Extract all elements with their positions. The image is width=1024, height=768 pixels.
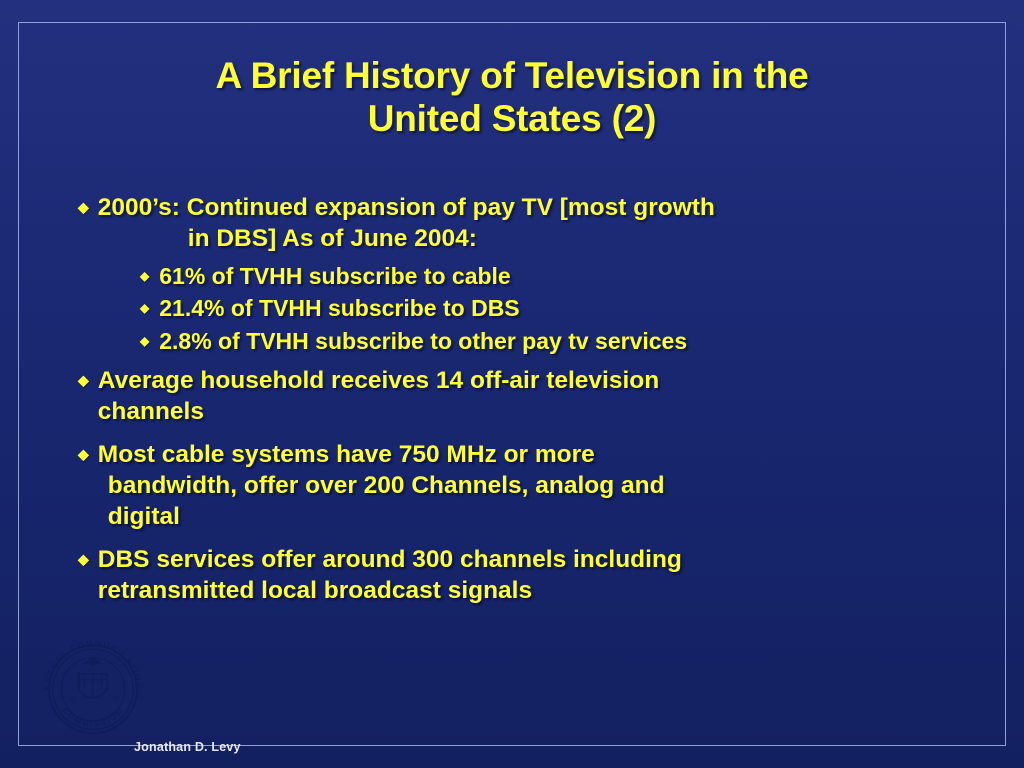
bullet-text-continuation: channels [98,396,1008,427]
bullet-text: 21.4% of TVHH subscribe to DBS [159,294,1008,323]
bullet-text: 2.8% of TVHH subscribe to other pay tv s… [159,327,1008,356]
slide: A Brief History of Television in the Uni… [0,0,1024,768]
title-line-2: United States (2) [368,98,657,139]
bullet-item: ◆ Most cable systems have 750 MHz or mor… [78,439,1008,533]
spacer [78,534,1008,544]
diamond-bullet-icon: ◆ [140,270,149,282]
svg-text:C: C [113,696,118,703]
slide-body: ◆ 2000’s: Continued expansion of pay TV … [78,192,1008,608]
bullet-text: DBS services offer around 300 channels i… [98,544,1008,607]
bullet-item: ◆ 2000’s: Continued expansion of pay TV … [78,192,1008,255]
bullet-text-line: DBS services offer around 300 channels i… [98,546,682,573]
bullet-item: ◆ Average household receives 14 off-air … [78,365,1008,428]
bullet-text: Most cable systems have 750 MHz or more … [98,439,1008,533]
svg-text:C: C [69,696,74,703]
diamond-bullet-icon: ◆ [140,302,149,314]
bullet-text-line: 2000’s: Continued expansion of pay TV [m… [98,194,715,221]
diamond-bullet-icon: ◆ [78,373,89,387]
bullet-text-line: Average household receives 14 off-air te… [98,367,659,394]
diamond-bullet-icon: ◆ [78,552,89,566]
fcc-seal-icon: ★ FEDERAL COMMUNICATIONS ★ COMMISSION C … [30,630,156,740]
diamond-bullet-icon: ◆ [140,335,149,347]
bullet-text-continuation: bandwidth, offer over 200 Channels, anal… [108,470,1008,501]
bullet-item: ◆ DBS services offer around 300 channels… [78,544,1008,607]
bullet-text: 61% of TVHH subscribe to cable [159,262,1008,291]
bullet-text-continuation-2: digital [108,501,1008,532]
bullet-text: 2000’s: Continued expansion of pay TV [m… [98,192,1008,255]
bullet-item: ◆ 61% of TVHH subscribe to cable [140,262,1008,291]
bullet-text-continuation: retransmitted local broadcast signals [98,575,1008,606]
bullet-text-line: Most cable systems have 750 MHz or more [98,441,595,468]
svg-text:★ FEDERAL COMMUNICATIONS ★: ★ FEDERAL COMMUNICATIONS ★ [30,630,143,690]
bullet-text: Average household receives 14 off-air te… [98,365,1008,428]
footer-author: Jonathan D. Levy [134,740,241,754]
bullet-text-continuation: in DBS] As of June 2004: [188,223,1008,254]
bullet-item: ◆ 21.4% of TVHH subscribe to DBS [140,294,1008,323]
diamond-bullet-icon: ◆ [78,200,89,214]
svg-text:COMMISSION: COMMISSION [60,706,125,729]
bullet-item: ◆ 2.8% of TVHH subscribe to other pay tv… [140,327,1008,356]
spacer [78,429,1008,439]
diamond-bullet-icon: ◆ [78,447,89,461]
title-line-1: A Brief History of Television in the [215,55,808,96]
page-title: A Brief History of Television in the Uni… [60,55,964,141]
